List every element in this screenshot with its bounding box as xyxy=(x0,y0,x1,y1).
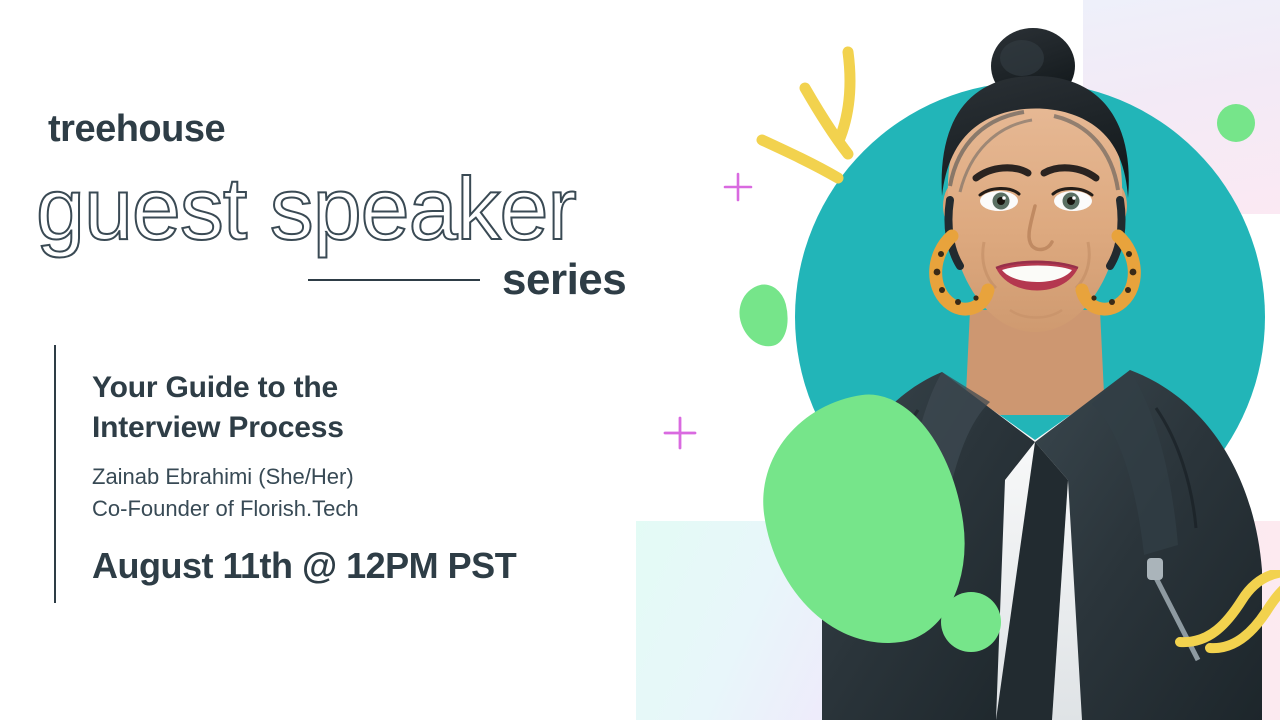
series-divider-rule xyxy=(308,279,480,281)
series-row: series xyxy=(308,255,626,305)
yellow-sparkle-strokes xyxy=(740,30,900,190)
yellow-wave-strokes xyxy=(1150,570,1280,680)
event-date-time: August 11th @ 12PM PST xyxy=(92,545,612,587)
magenta-plus-icon-lower xyxy=(663,416,697,450)
green-blob-small xyxy=(733,280,795,352)
talk-title: Your Guide to the Interview Process xyxy=(92,368,612,447)
event-details: Your Guide to the Interview Process Zain… xyxy=(92,368,612,587)
green-circle-bottom xyxy=(941,592,1001,652)
treehouse-wordmark: treehouse xyxy=(48,108,225,151)
speaker-name: Zainab Ebrahimi (She/Her) xyxy=(92,461,612,493)
speaker-role: Co-Founder of Florish.Tech xyxy=(92,493,612,525)
series-label: series xyxy=(502,255,626,305)
guest-speaker-promo-poster: treehouse guest speaker series Your Guid… xyxy=(0,0,1280,720)
guest-speaker-headline: guest speaker xyxy=(36,158,576,260)
green-circle-top-right xyxy=(1217,104,1255,142)
magenta-plus-icon-upper xyxy=(723,172,753,202)
vertical-divider-rule xyxy=(54,345,56,603)
